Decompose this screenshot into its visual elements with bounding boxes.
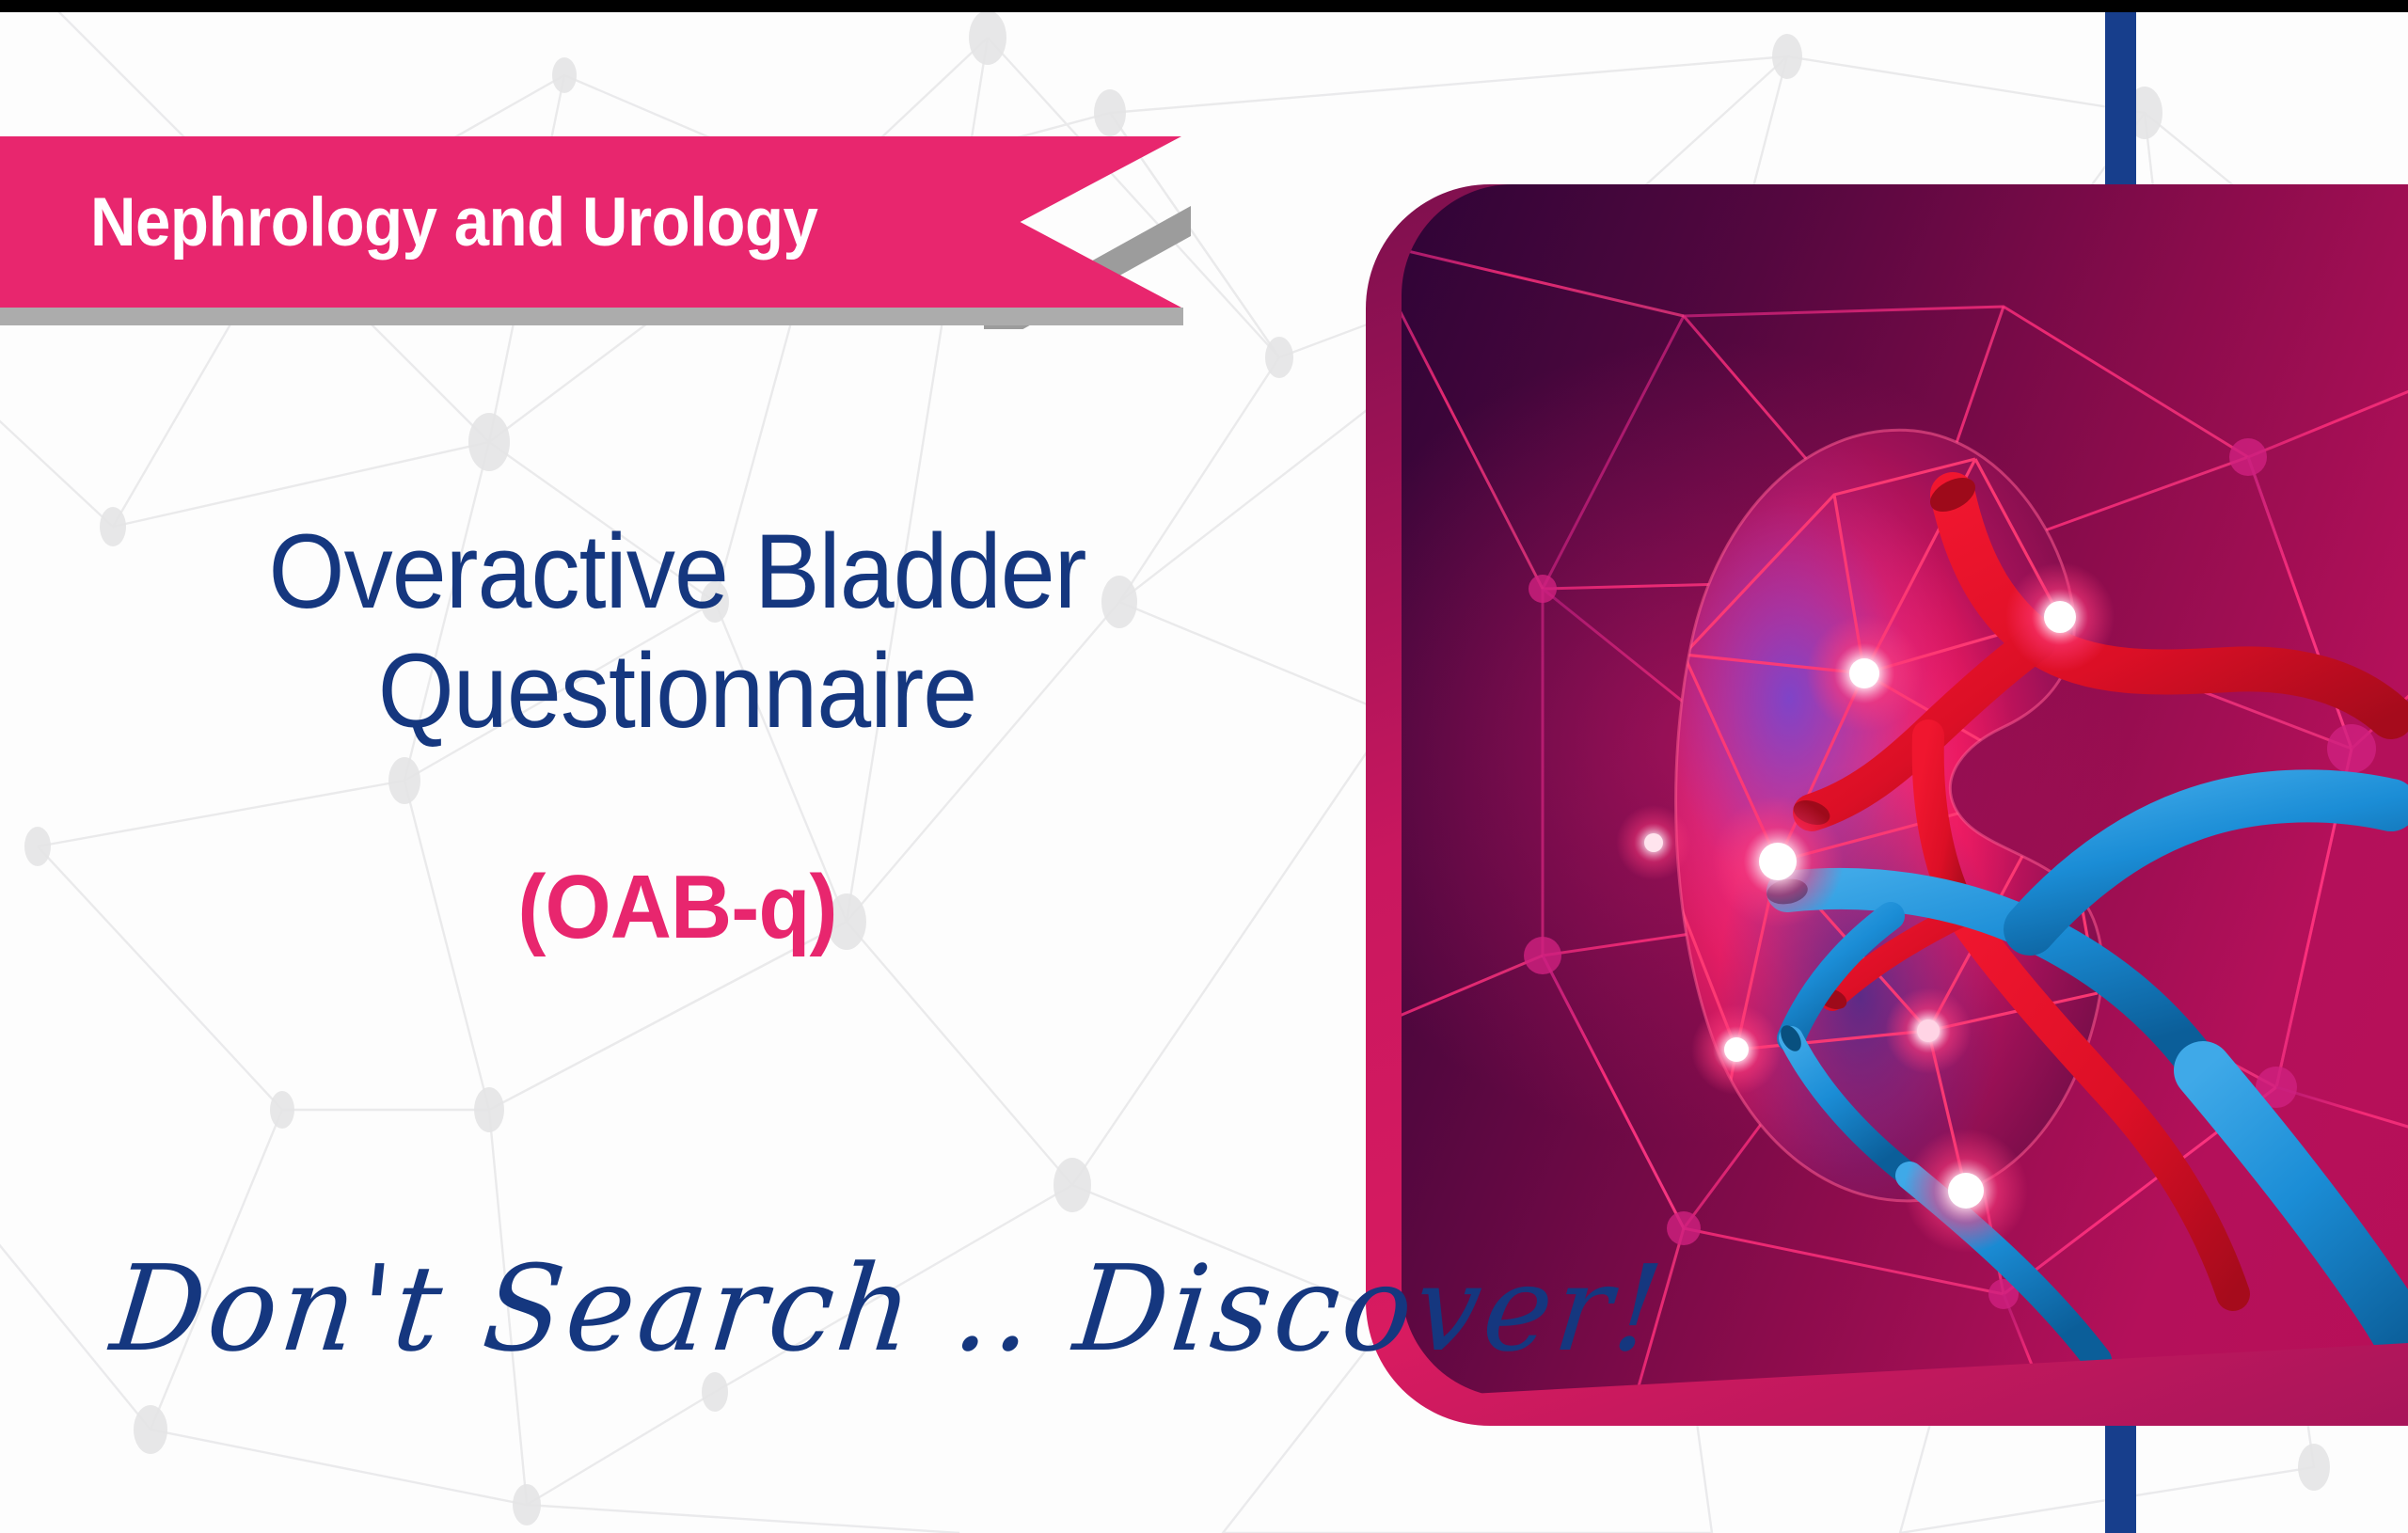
page-title: Overactive Bladder Questionnaire	[56, 513, 1298, 751]
page-title-line-2: Questionnaire	[100, 632, 1255, 751]
top-crop-strip	[0, 0, 2408, 12]
acronym-subtitle: (OAB-q)	[94, 856, 1261, 959]
brand-tagline: Don't Search .. Discover!	[105, 1240, 1306, 1378]
category-ribbon: Nephrology and Urology	[0, 136, 1210, 329]
kidney-organ-graphic	[1402, 184, 2408, 1398]
ribbon-category-label: Nephrology and Urology	[90, 136, 817, 308]
ribbon-base-shadow	[0, 308, 1183, 325]
poster-canvas: Nephrology and Urology Overactive Bladde…	[0, 0, 2408, 1533]
card-surface	[1402, 184, 2408, 1398]
page-title-line-1: Overactive Bladder	[100, 513, 1255, 632]
